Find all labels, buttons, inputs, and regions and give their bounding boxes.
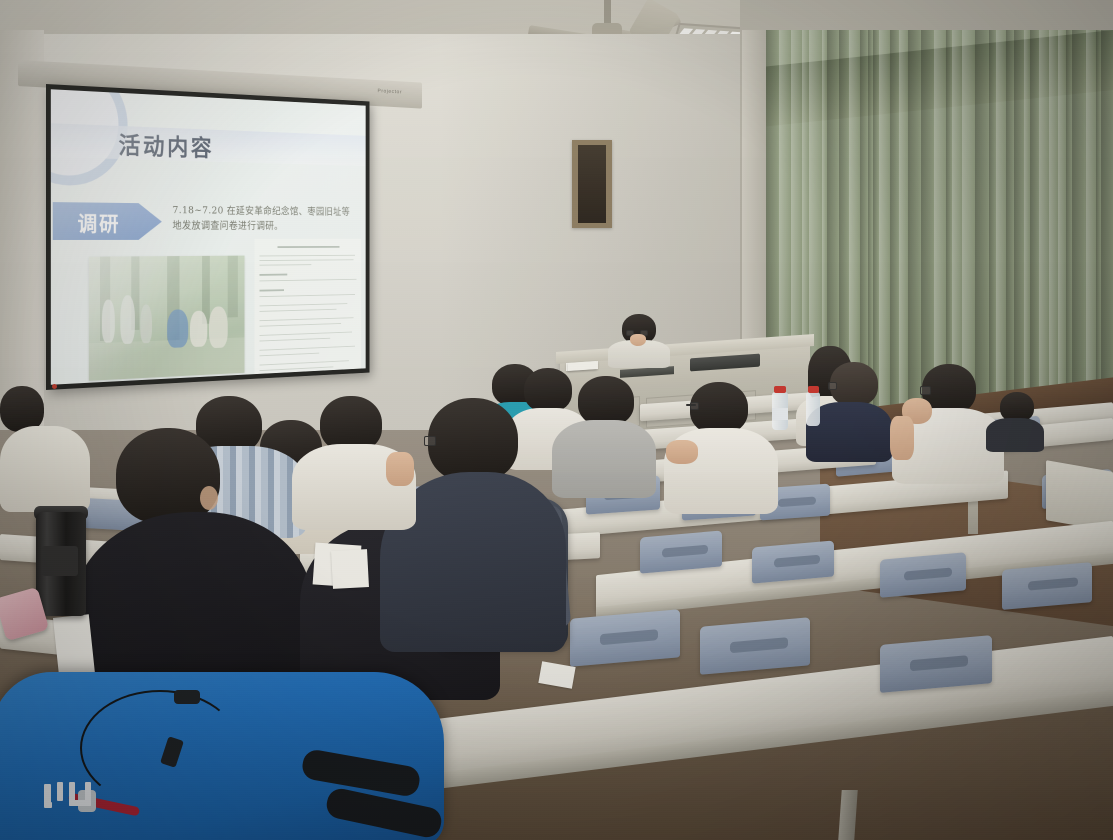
water-tumbler: [36, 512, 86, 616]
chair: [880, 552, 966, 598]
paper-sheet: [331, 549, 369, 589]
wall-niche: [572, 140, 612, 228]
chair: [880, 635, 992, 693]
curtain-pleat: [879, 30, 888, 450]
chair: [640, 530, 722, 573]
slide-questionnaire-image: [255, 239, 362, 378]
curtain-pleat: [1014, 30, 1024, 450]
bottle-cap-icon: [808, 386, 819, 393]
curtain-pleat: [996, 30, 1005, 450]
projector-screen: 活动内容 调研 7.18~7.20 在延安革命纪念馆、枣园旧址等地发放调查问卷进…: [46, 84, 369, 390]
screen-indicator-dot: [52, 384, 57, 389]
paper-sheet: [53, 614, 95, 677]
curtain-pleat: [890, 30, 898, 450]
projector-brand-label: Projector: [377, 88, 402, 95]
slide-photo: [89, 256, 245, 381]
curtain-pleat: [1006, 30, 1013, 450]
chair: [570, 609, 680, 667]
curtain-pleat: [908, 30, 920, 450]
curtain-pleat: [989, 30, 995, 450]
classroom-photo: Projector 活动内容 调研 7.18~7.20 在延安革命纪念馆、枣园旧…: [0, 0, 1113, 840]
chair: [752, 540, 834, 583]
slide-surface: 活动内容 调研 7.18~7.20 在延安革命纪念馆、枣园旧址等地发放调查问卷进…: [51, 89, 366, 384]
slide-section-tag: 调研: [53, 202, 162, 240]
backpack-foreground: [0, 672, 444, 840]
chair: [700, 617, 810, 675]
slide-heading: 活动内容: [118, 126, 214, 163]
slide-body-text: 7.18~7.20 在延安革命纪念馆、枣园旧址等地发放调查问卷进行调研。: [172, 203, 355, 234]
water-bottle: [806, 392, 820, 426]
slide-section-tag-label: 调研: [78, 208, 121, 238]
backpack-logo-icon: [44, 782, 94, 808]
chair: [1002, 562, 1092, 610]
curtain-pleat: [975, 30, 989, 450]
bottle-cap-icon: [774, 386, 786, 393]
curtain-pleat: [899, 30, 907, 450]
